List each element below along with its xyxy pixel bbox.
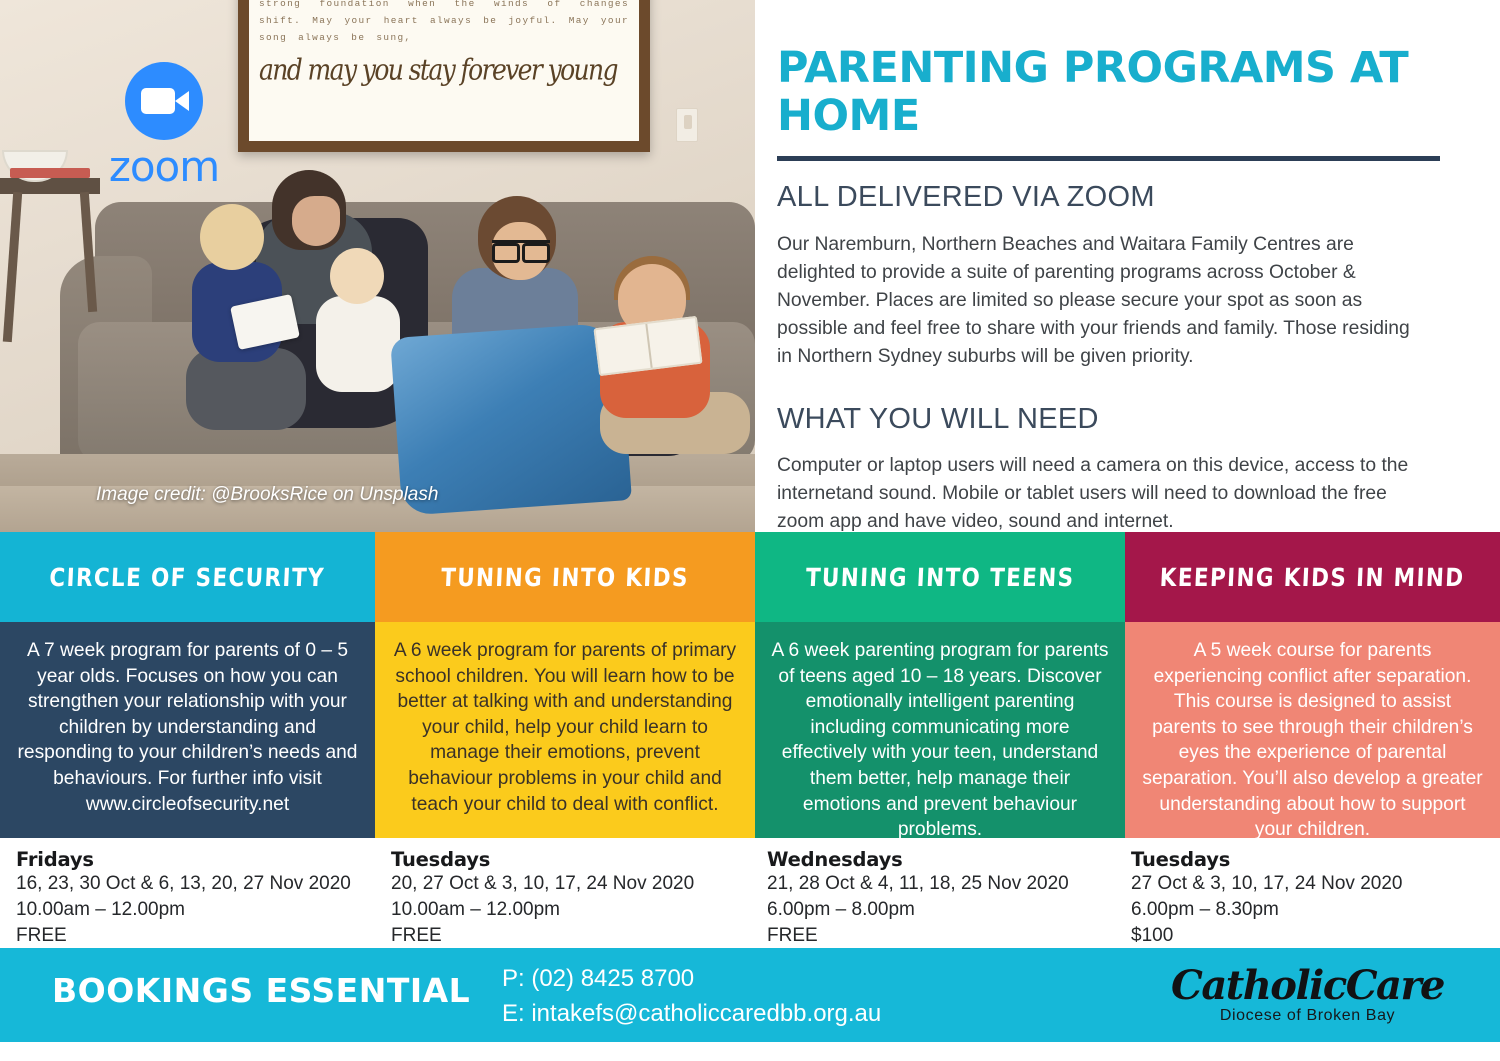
program-column-tuning-into-kids: TUNING INTO KIDS A 6 week program for pa…: [375, 532, 755, 838]
wall-art-typed-text: and be strong. May your hands always be …: [259, 0, 629, 46]
page-title: PARENTING PROGRAMS AT HOME: [777, 44, 1438, 140]
program-title-1: CIRCLE OF SECURITY: [49, 563, 326, 592]
zoom-wordmark: zoom: [98, 142, 230, 191]
program-body-4: A 5 week course for parents experiencing…: [1125, 622, 1500, 838]
schedule-dates-4: 27 Oct & 3, 10, 17, 24 Nov 2020: [1131, 871, 1488, 897]
intro-paragraph: Our Naremburn, Northern Beaches and Wait…: [777, 231, 1417, 371]
program-description-1: A 7 week program for parents of 0 – 5 ye…: [16, 638, 359, 817]
program-columns: CIRCLE OF SECURITY A 7 week program for …: [0, 532, 1500, 838]
schedule-time-2: 10.00am – 12.00pm: [391, 897, 743, 923]
contact-details: P: (02) 8425 8700 E: intakefs@catholicca…: [502, 961, 881, 1031]
parent-figure-face: [292, 196, 340, 246]
program-header-4: KEEPING KIDS IN MIND: [1125, 532, 1500, 622]
title-divider: [777, 156, 1440, 161]
program-column-circle-of-security: CIRCLE OF SECURITY A 7 week program for …: [0, 532, 375, 838]
schedule-day-4: Tuesdays: [1131, 848, 1488, 871]
catholiccare-wordmark: CatholicCare: [1171, 962, 1444, 1009]
top-section: and be strong. May your hands always be …: [0, 0, 1500, 532]
image-credit: Image credit: @BrooksRice on Unsplash: [96, 484, 438, 506]
glasses-icon: [492, 240, 550, 254]
schedule-column-2: Tuesdays 20, 27 Oct & 3, 10, 17, 24 Nov …: [375, 838, 755, 948]
light-switch: [676, 108, 698, 142]
camera-glyph: [141, 88, 175, 114]
schedule-cost-4: $100: [1131, 923, 1488, 949]
schedule-time-1: 10.00am – 12.00pm: [16, 897, 363, 923]
schedule-day-2: Tuesdays: [391, 848, 743, 871]
baby-head: [330, 248, 384, 304]
phone-number[interactable]: P: (02) 8425 8700: [502, 961, 881, 996]
schedule-day-1: Fridays: [16, 848, 363, 871]
program-title-3: TUNING INTO TEENS: [805, 563, 1075, 592]
program-description-4: A 5 week course for parents experiencing…: [1141, 638, 1484, 843]
schedule-cost-2: FREE: [391, 923, 743, 949]
toddler-head: [200, 204, 264, 270]
flyer-page: and be strong. May your hands always be …: [0, 0, 1500, 1061]
intro-panel: PARENTING PROGRAMS AT HOME ALL DELIVERED…: [755, 0, 1500, 532]
footer-bar: BOOKINGS ESSENTIAL P: (02) 8425 8700 E: …: [0, 948, 1500, 1042]
bottom-white-bar: [0, 1042, 1500, 1061]
catholiccare-tagline: Diocese of Broken Bay: [1171, 1007, 1444, 1025]
schedule-day-3: Wednesdays: [767, 848, 1113, 871]
schedule-row: Fridays 16, 23, 30 Oct & 6, 13, 20, 27 N…: [0, 838, 1500, 948]
video-camera-icon: [125, 62, 203, 140]
hero-photo: and be strong. May your hands always be …: [0, 0, 755, 532]
schedule-dates-3: 21, 28 Oct & 4, 11, 18, 25 Nov 2020: [767, 871, 1113, 897]
program-column-keeping-kids-in-mind: KEEPING KIDS IN MIND A 5 week course for…: [1125, 532, 1500, 838]
program-title-4: KEEPING KIDS IN MIND: [1160, 563, 1466, 592]
subheading-requirements: WHAT YOU WILL NEED: [777, 403, 1438, 436]
books-stack: [10, 168, 90, 178]
schedule-column-1: Fridays 16, 23, 30 Oct & 6, 13, 20, 27 N…: [0, 838, 375, 948]
wall-art-script-text: and may you stay forever young: [259, 53, 629, 86]
schedule-column-4: Tuesdays 27 Oct & 3, 10, 17, 24 Nov 2020…: [1125, 838, 1500, 948]
email-address[interactable]: E: intakefs@catholiccaredbb.org.au: [502, 996, 881, 1031]
requirements-paragraph: Computer or laptop users will need a cam…: [777, 452, 1423, 536]
program-description-2: A 6 week program for parents of primary …: [391, 638, 739, 817]
schedule-column-3: Wednesdays 21, 28 Oct & 4, 11, 18, 25 No…: [755, 838, 1125, 948]
program-body-1: A 7 week program for parents of 0 – 5 ye…: [0, 622, 375, 838]
program-body-3: A 6 week parenting program for parents o…: [755, 622, 1125, 838]
catholiccare-logo: CatholicCare Diocese of Broken Bay: [1171, 962, 1444, 1025]
schedule-cost-3: FREE: [767, 923, 1113, 949]
program-description-3: A 6 week parenting program for parents o…: [771, 638, 1109, 843]
zoom-logo: zoom: [98, 62, 230, 191]
program-body-2: A 6 week program for parents of primary …: [375, 622, 755, 838]
program-title-2: TUNING INTO KIDS: [441, 563, 690, 592]
program-header-3: TUNING INTO TEENS: [755, 532, 1125, 622]
program-header-2: TUNING INTO KIDS: [375, 532, 755, 622]
program-column-tuning-into-teens: TUNING INTO TEENS A 6 week parenting pro…: [755, 532, 1125, 838]
program-header-1: CIRCLE OF SECURITY: [0, 532, 375, 622]
bookings-essential-label: BOOKINGS ESSENTIAL: [52, 971, 470, 1010]
schedule-cost-1: FREE: [16, 923, 363, 949]
schedule-dates-1: 16, 23, 30 Oct & 6, 13, 20, 27 Nov 2020: [16, 871, 363, 897]
wall-art-frame: and be strong. May your hands always be …: [238, 0, 650, 152]
baby-body: [316, 296, 400, 392]
schedule-dates-2: 20, 27 Oct & 3, 10, 17, 24 Nov 2020: [391, 871, 743, 897]
subheading-delivery: ALL DELIVERED VIA ZOOM: [777, 181, 1438, 214]
schedule-time-4: 6.00pm – 8.30pm: [1131, 897, 1488, 923]
schedule-time-3: 6.00pm – 8.00pm: [767, 897, 1113, 923]
